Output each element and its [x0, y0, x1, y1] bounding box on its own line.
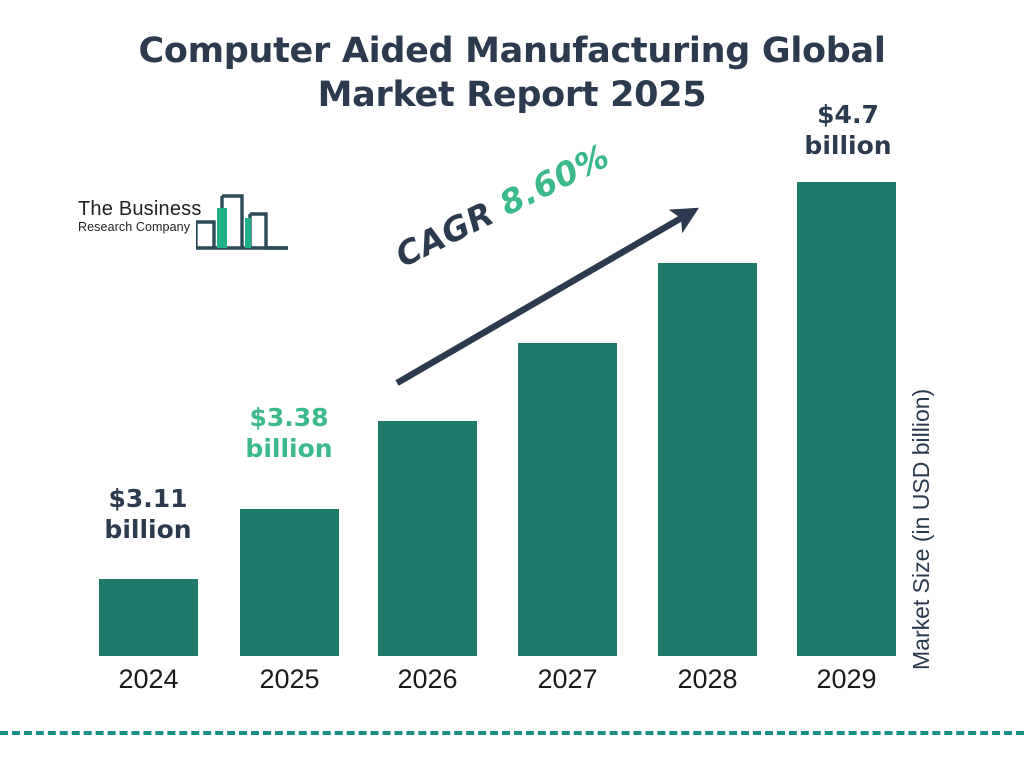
xtick-2028: 2028: [658, 664, 757, 695]
value-label-2029: $4.7 billion: [784, 99, 912, 162]
value-label-2025-amount: $3.38: [218, 402, 360, 433]
xtick-2027: 2027: [518, 664, 617, 695]
bar-2029: [797, 182, 896, 656]
value-label-2029-amount: $4.7: [784, 99, 912, 130]
xtick-2026: 2026: [378, 664, 477, 695]
value-label-2024-amount: $3.11: [78, 483, 218, 514]
value-label-2024-unit: billion: [78, 514, 218, 545]
y-axis-title: Market Size (in USD billion): [908, 0, 935, 290]
bar-2026: [378, 421, 477, 656]
xtick-2029: 2029: [797, 664, 896, 695]
xtick-2024: 2024: [99, 664, 198, 695]
value-label-2025: $3.38 billion: [218, 402, 360, 465]
bar-2025: [240, 509, 339, 656]
chart-page: Computer Aided Manufacturing Global Mark…: [0, 0, 1024, 768]
value-label-2025-unit: billion: [218, 433, 360, 464]
bar-2028: [658, 263, 757, 656]
xtick-2025: 2025: [240, 664, 339, 695]
bar-2024: [99, 579, 198, 656]
footer-divider: [0, 731, 1024, 735]
value-label-2029-unit: billion: [784, 130, 912, 161]
bar-2027: [518, 343, 617, 656]
y-axis-title-text: Market Size (in USD billion): [908, 290, 935, 670]
value-label-2024: $3.11 billion: [78, 483, 218, 546]
